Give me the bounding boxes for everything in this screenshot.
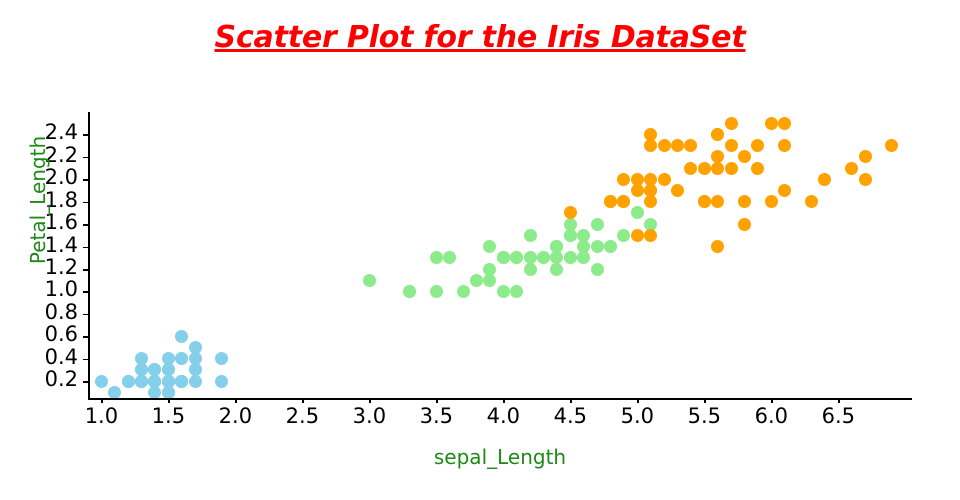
- scatter-point: [738, 218, 751, 231]
- scatter-point: [778, 139, 791, 152]
- x-tick-mark: [168, 398, 170, 403]
- scatter-point: [711, 195, 724, 208]
- y-tick-mark: [83, 179, 88, 181]
- scatter-point: [711, 240, 724, 253]
- y-tick-mark: [83, 381, 88, 383]
- scatter-point: [751, 139, 764, 152]
- scatter-point: [577, 251, 590, 264]
- scatter-point: [510, 285, 523, 298]
- scatter-point: [497, 251, 510, 264]
- y-tick-mark: [83, 269, 88, 271]
- scatter-point: [564, 251, 577, 264]
- scatter-point: [430, 251, 443, 264]
- y-tick-label: 0.8: [0, 300, 78, 324]
- scatter-point: [604, 240, 617, 253]
- x-tick-mark: [570, 398, 572, 403]
- y-tick-mark: [83, 314, 88, 316]
- scatter-point: [483, 263, 496, 276]
- scatter-point: [644, 195, 657, 208]
- scatter-point: [537, 251, 550, 264]
- x-tick-label: 3.0: [334, 404, 404, 428]
- scatter-point: [751, 162, 764, 175]
- scatter-point: [765, 117, 778, 130]
- scatter-point: [483, 240, 496, 253]
- y-tick-mark: [83, 202, 88, 204]
- scatter-point: [778, 117, 791, 130]
- y-tick-mark: [83, 291, 88, 293]
- scatter-point: [122, 375, 135, 388]
- y-tick-mark: [83, 157, 88, 159]
- scatter-point: [524, 229, 537, 242]
- scatter-point: [859, 150, 872, 163]
- scatter-point: [135, 375, 148, 388]
- x-tick-mark: [771, 398, 773, 403]
- scatter-point: [684, 162, 697, 175]
- scatter-point: [617, 229, 630, 242]
- y-tick-mark: [83, 247, 88, 249]
- x-tick-label: 2.0: [200, 404, 270, 428]
- scatter-point: [805, 195, 818, 208]
- scatter-point: [577, 229, 590, 242]
- y-tick-mark: [83, 134, 88, 136]
- x-tick-label: 1.0: [66, 404, 136, 428]
- y-tick-label: 0.2: [0, 367, 78, 391]
- x-tick-label: 5.0: [602, 404, 672, 428]
- scatter-point: [108, 386, 121, 399]
- scatter-point: [215, 375, 228, 388]
- x-tick-mark: [101, 398, 103, 403]
- scatter-point: [457, 285, 470, 298]
- x-tick-label: 5.5: [669, 404, 739, 428]
- scatter-point: [524, 263, 537, 276]
- scatter-point: [698, 162, 711, 175]
- scatter-point: [725, 139, 738, 152]
- scatter-point: [845, 162, 858, 175]
- y-tick-label: 0.4: [0, 345, 78, 369]
- scatter-point: [711, 128, 724, 141]
- scatter-point: [175, 375, 188, 388]
- scatter-point: [564, 206, 577, 219]
- scatter-point: [550, 240, 563, 253]
- scatter-point: [162, 386, 175, 399]
- scatter-point: [684, 139, 697, 152]
- scatter-point: [885, 139, 898, 152]
- scatter-point: [859, 173, 872, 186]
- x-tick-label: 3.5: [401, 404, 471, 428]
- scatter-point: [175, 352, 188, 365]
- scatter-point: [738, 195, 751, 208]
- x-tick-label: 4.5: [535, 404, 605, 428]
- x-tick-mark: [637, 398, 639, 403]
- x-tick-label: 6.0: [736, 404, 806, 428]
- scatter-point: [658, 173, 671, 186]
- scatter-point: [765, 195, 778, 208]
- y-tick-mark: [83, 359, 88, 361]
- scatter-point: [818, 173, 831, 186]
- scatter-point: [443, 251, 456, 264]
- scatter-point: [550, 263, 563, 276]
- scatter-point: [711, 150, 724, 163]
- scatter-point: [162, 375, 175, 388]
- scatter-point: [148, 375, 161, 388]
- scatter-point: [591, 240, 604, 253]
- scatter-point: [617, 173, 630, 186]
- scatter-point: [95, 375, 108, 388]
- x-tick-label: 2.5: [267, 404, 337, 428]
- scatter-point: [698, 195, 711, 208]
- scatter-points-layer: [88, 112, 912, 398]
- scatter-point: [658, 139, 671, 152]
- scatter-point: [671, 139, 684, 152]
- scatter-point: [738, 150, 751, 163]
- y-tick-mark: [83, 224, 88, 226]
- x-tick-mark: [235, 398, 237, 403]
- x-tick-mark: [503, 398, 505, 403]
- x-tick-mark: [302, 398, 304, 403]
- scatter-point: [497, 285, 510, 298]
- scatter-point: [631, 229, 644, 242]
- scatter-point: [430, 285, 443, 298]
- scatter-point: [550, 251, 563, 264]
- scatter-point: [189, 341, 202, 354]
- scatter-point: [631, 184, 644, 197]
- scatter-point: [483, 274, 496, 287]
- x-axis-label: sepal_Length: [88, 445, 912, 469]
- scatter-point: [470, 274, 483, 287]
- scatter-point: [363, 274, 376, 287]
- x-tick-label: 6.5: [803, 404, 873, 428]
- scatter-point: [591, 263, 604, 276]
- scatter-point: [510, 251, 523, 264]
- scatter-point: [175, 330, 188, 343]
- scatter-point: [189, 363, 202, 376]
- scatter-point: [631, 206, 644, 219]
- x-tick-mark: [838, 398, 840, 403]
- scatter-point: [725, 117, 738, 130]
- scatter-point: [644, 229, 657, 242]
- scatter-point: [564, 229, 577, 242]
- scatter-point: [711, 162, 724, 175]
- x-tick-label: 4.0: [468, 404, 538, 428]
- y-axis-spine: [88, 112, 90, 398]
- scatter-point: [524, 251, 537, 264]
- x-tick-mark: [436, 398, 438, 403]
- y-tick-label: 0.6: [0, 322, 78, 346]
- x-tick-label: 1.5: [133, 404, 203, 428]
- scatter-point: [778, 184, 791, 197]
- scatter-point: [644, 139, 657, 152]
- scatter-point: [189, 375, 202, 388]
- scatter-point: [617, 195, 630, 208]
- scatter-point: [403, 285, 416, 298]
- y-axis-label: Petal_Length: [26, 100, 50, 300]
- x-tick-mark: [704, 398, 706, 403]
- scatter-point: [591, 218, 604, 231]
- scatter-point: [604, 195, 617, 208]
- scatter-point: [725, 162, 738, 175]
- chart-title: Scatter Plot for the Iris DataSet: [0, 20, 960, 55]
- plot-area: [88, 112, 912, 398]
- scatter-point: [671, 184, 684, 197]
- scatter-point: [215, 352, 228, 365]
- scatter-point: [148, 386, 161, 399]
- x-axis-spine: [88, 398, 912, 400]
- x-tick-mark: [369, 398, 371, 403]
- chart-figure: Scatter Plot for the Iris DataSet 1.01.5…: [0, 0, 960, 500]
- y-tick-mark: [83, 336, 88, 338]
